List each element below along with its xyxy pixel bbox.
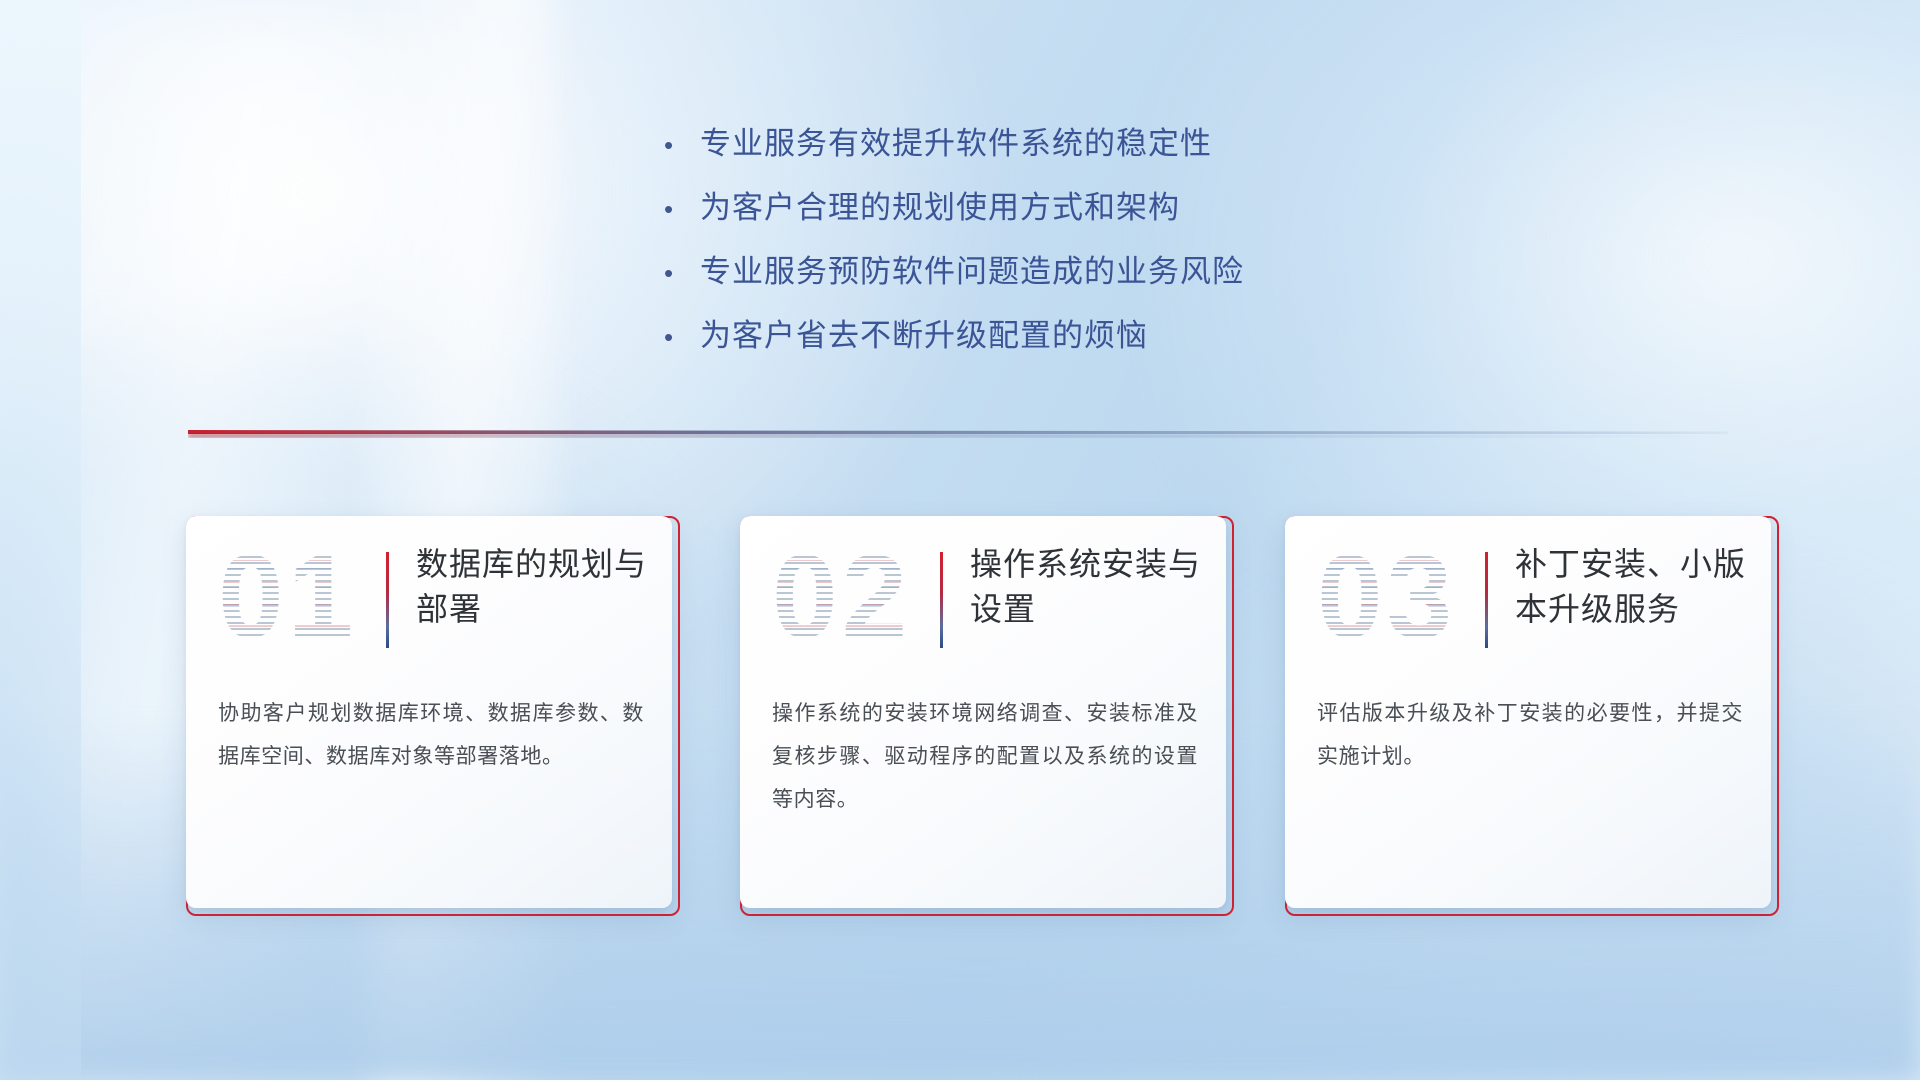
section-divider	[188, 428, 1728, 442]
service-card[interactable]: 01 01 数据库的规划与部署 协助客户规划数据库环境、数据库参数、数据库空间、…	[186, 516, 680, 916]
bullet-dot-icon: •	[660, 324, 700, 350]
card-title: 操作系统安装与设置	[970, 542, 1210, 633]
benefits-bullet-list: • 专业服务有效提升软件系统的稳定性 • 为客户合理的规划使用方式和架构 • 专…	[660, 118, 1244, 374]
list-item: • 专业服务有效提升软件系统的稳定性	[660, 118, 1244, 182]
bullet-dot-icon: •	[660, 196, 700, 222]
card-number-tint-overlay: 01	[218, 538, 357, 656]
bullet-text: 为客户省去不断升级配置的烦恼	[700, 310, 1148, 355]
card-number-tint-overlay: 03	[1317, 538, 1456, 656]
card-surface: 02 02 操作系统安装与设置 操作系统的安装环境网络调查、安装标准及复核步骤、…	[740, 516, 1226, 908]
card-number-tint-overlay: 02	[772, 538, 911, 656]
card-title: 补丁安装、小版本升级服务	[1515, 542, 1755, 633]
background-left-column	[0, 0, 81, 1080]
bullet-dot-icon: •	[660, 132, 700, 158]
list-item: • 专业服务预防软件问题造成的业务风险	[660, 246, 1244, 310]
list-item: • 为客户省去不断升级配置的烦恼	[660, 310, 1244, 374]
card-title: 数据库的规划与部署	[416, 542, 656, 633]
card-body-text: 操作系统的安装环境网络调查、安装标准及复核步骤、驱动程序的配置以及系统的设置等内…	[772, 692, 1198, 821]
list-item: • 为客户合理的规划使用方式和架构	[660, 182, 1244, 246]
bullet-text: 专业服务有效提升软件系统的稳定性	[700, 118, 1212, 163]
card-body-text: 评估版本升级及补丁安装的必要性，并提交实施计划。	[1317, 692, 1743, 778]
service-card[interactable]: 02 02 操作系统安装与设置 操作系统的安装环境网络调查、安装标准及复核步骤、…	[740, 516, 1234, 916]
card-surface: 03 03 补丁安装、小版本升级服务 评估版本升级及补丁安装的必要性，并提交实施…	[1285, 516, 1771, 908]
bullet-dot-icon: •	[660, 260, 700, 286]
card-header: 02 02 操作系统安装与设置	[740, 516, 1226, 686]
bullet-text: 专业服务预防软件问题造成的业务风险	[700, 246, 1244, 291]
card-divider-line	[940, 552, 943, 648]
card-header: 03 03 补丁安装、小版本升级服务	[1285, 516, 1771, 686]
card-divider-line	[386, 552, 389, 648]
service-card[interactable]: 03 03 补丁安装、小版本升级服务 评估版本升级及补丁安装的必要性，并提交实施…	[1285, 516, 1779, 916]
card-divider-line	[1485, 552, 1488, 648]
card-header: 01 01 数据库的规划与部署	[186, 516, 672, 686]
card-surface: 01 01 数据库的规划与部署 协助客户规划数据库环境、数据库参数、数据库空间、…	[186, 516, 672, 908]
bullet-text: 为客户合理的规划使用方式和架构	[700, 182, 1180, 227]
card-body-text: 协助客户规划数据库环境、数据库参数、数据库空间、数据库对象等部署落地。	[218, 692, 644, 778]
